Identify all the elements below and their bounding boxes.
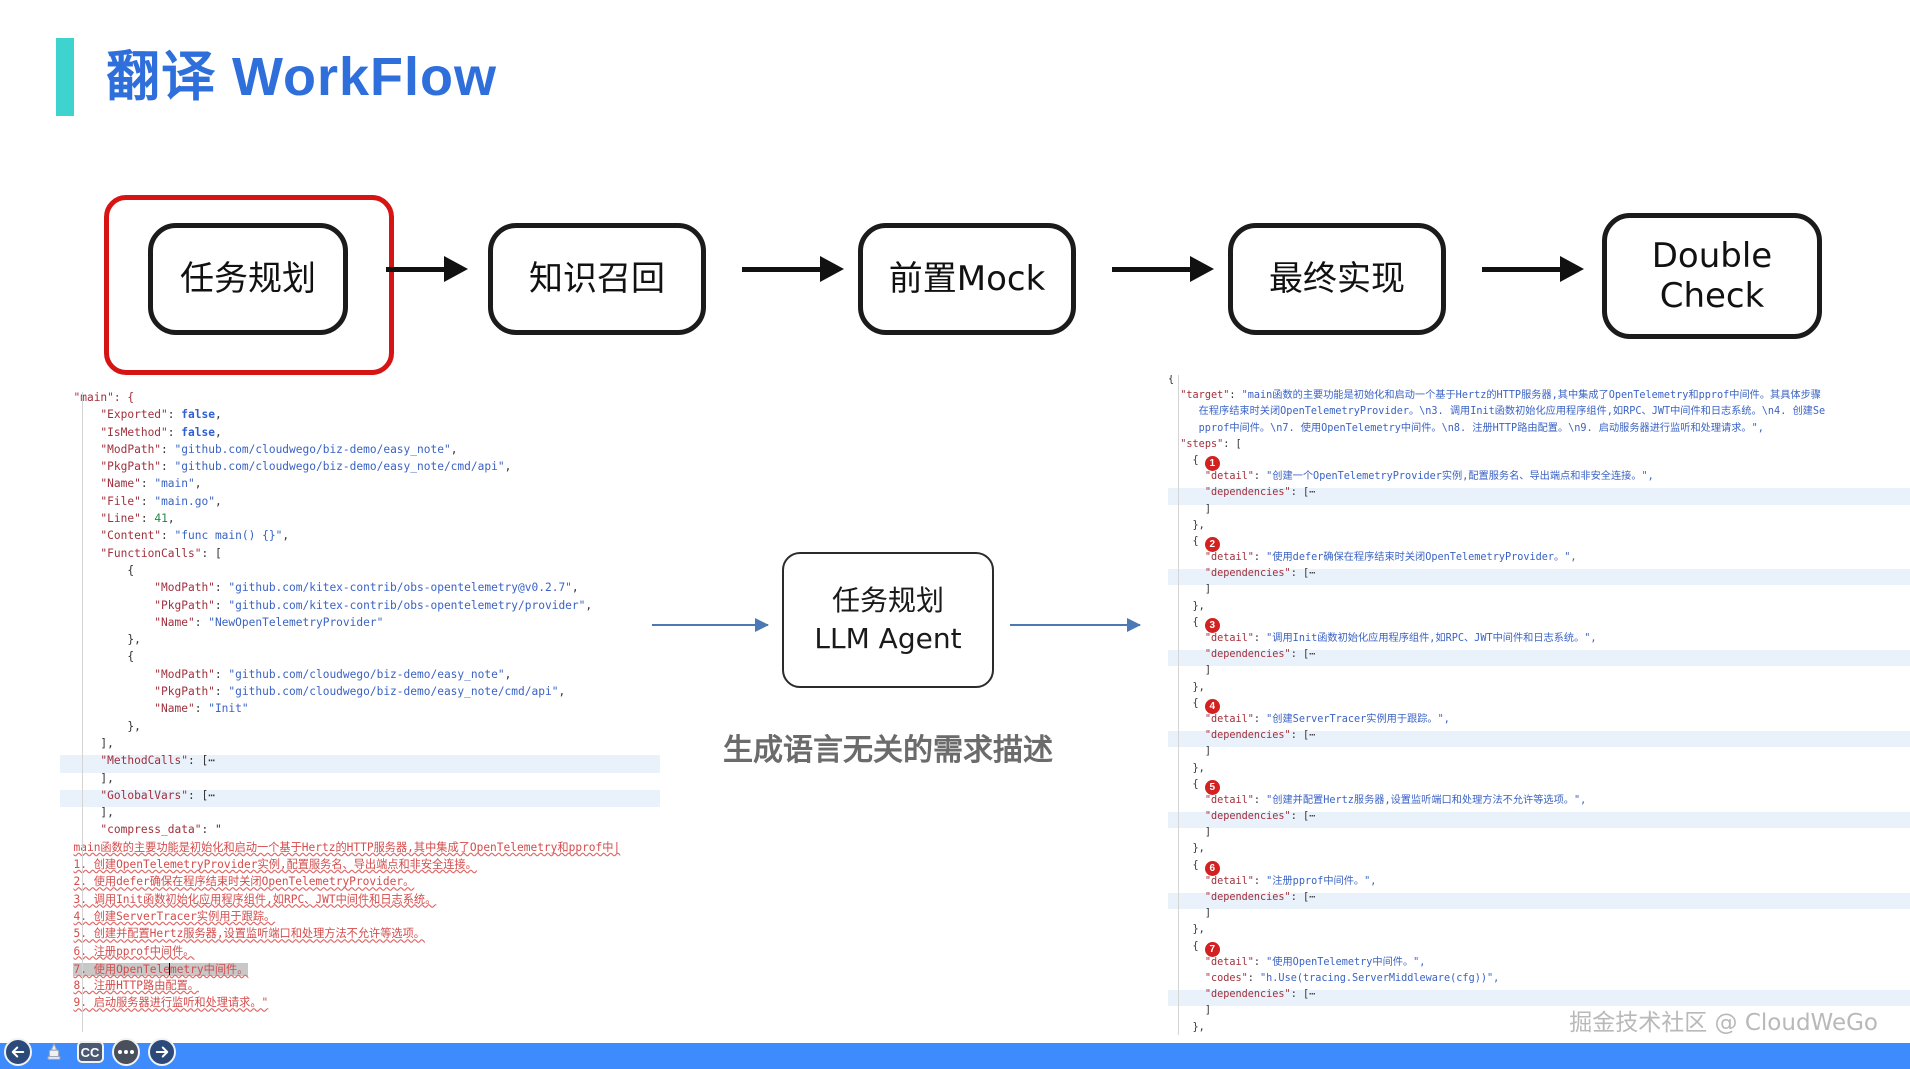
forward-arrow-icon[interactable] [148, 1038, 176, 1066]
workflow-step-1[interactable]: 任务规划 [148, 223, 348, 335]
json-line: ] [1168, 585, 1910, 601]
json-line: pprof中间件。\n7. 使用OpenTelemetry中间件。\n8. 注册… [1168, 424, 1910, 440]
watermark: 掘金技术社区 @ CloudWeGo [1569, 1003, 1878, 1037]
output-arrow [1010, 624, 1140, 626]
workflow-diagram: 任务规划 知识召回 前置Mock 最终实现 Double [0, 195, 1910, 340]
step-open-line: { 7 [1168, 942, 1910, 958]
json-line: "PkgPath": "github.com/kitex-contrib/obs… [60, 600, 660, 617]
workflow-step-5-label-line2: Check [1660, 276, 1765, 316]
step-detail-line: "detail": "使用OpenTelemetry中间件。", [1168, 958, 1910, 974]
json-line: { [60, 651, 660, 668]
json-line: ] [1168, 747, 1910, 763]
workflow-step-2-label: 知识召回 [529, 259, 665, 299]
step-open-line: { 4 [1168, 699, 1910, 715]
step-detail-line: "detail": "使用defer确保在程序结束时关闭OpenTelemetr… [1168, 553, 1910, 569]
output-json-panel[interactable]: { "target": "main函数的主要功能是初始化和启动一个基于Hertz… [1168, 375, 1910, 1035]
json-line: }, [1168, 844, 1910, 860]
back-arrow-icon[interactable] [4, 1038, 32, 1066]
compress-data-line[interactable]: 9. 启动服务器进行监听和处理请求。" [60, 997, 660, 1014]
step-detail-line: "detail": "创建一个OpenTelemetryProvider实例,配… [1168, 472, 1910, 488]
json-line: ] [1168, 909, 1910, 925]
workflow-step-4-label: 最终实现 [1269, 259, 1405, 299]
json-line: ] [1168, 828, 1910, 844]
json-line: { [60, 565, 660, 582]
compress-data-line[interactable]: 7. 使用OpenTelemetry中间件。 [60, 963, 660, 980]
step-dependencies-line: "dependencies": [⋯ [1168, 812, 1910, 828]
step-badge: 7 [1205, 942, 1220, 957]
json-line: 在程序结束时关闭OpenTelemetryProvider。\n3. 调用Ini… [1168, 407, 1910, 423]
workflow-step-3[interactable]: 前置Mock [858, 223, 1076, 335]
compress-data-line[interactable]: 3. 调用Init函数初始化应用程序组件,如RPC、JWT中间件和日志系统。 [60, 894, 660, 911]
workflow-step-4[interactable]: 最终实现 [1228, 223, 1446, 335]
json-line: "PkgPath": "github.com/cloudwego/biz-dem… [60, 461, 660, 478]
json-line: "Content": "func main() {}", [60, 530, 660, 547]
json-line: "PkgPath": "github.com/cloudwego/biz-dem… [60, 686, 660, 703]
compress-data-line[interactable]: 5. 创建并配置Hertz服务器,设置监听端口和处理方法不允许等选项。 [60, 928, 660, 945]
step-badge: 2 [1205, 537, 1220, 552]
step-badge: 3 [1205, 618, 1220, 633]
llm-agent-label-line2: LLM Agent [814, 620, 961, 658]
json-line: "Name": "NewOpenTelemetryProvider" [60, 617, 660, 634]
agent-caption: 生成语言无关的需求描述 [676, 725, 1100, 769]
json-line: }, [1168, 602, 1910, 618]
step-detail-line: "detail": "调用Init函数初始化应用程序组件,如RPC、JWT中间件… [1168, 634, 1910, 650]
step-open-line: { 3 [1168, 618, 1910, 634]
json-line: "Line": 41, [60, 513, 660, 530]
workflow-step-2[interactable]: 知识召回 [488, 223, 706, 335]
output-json-lines: { "target": "main函数的主要功能是初始化和启动一个基于Hertz… [1168, 375, 1910, 1035]
compress-data-line[interactable]: 2. 使用defer确保在程序结束时关闭OpenTelemetryProvide… [60, 876, 660, 893]
step-dependencies-line: "dependencies": [⋯ [1168, 569, 1910, 585]
more-dots-icon[interactable] [112, 1038, 140, 1066]
step-open-line: { 6 [1168, 861, 1910, 877]
json-line: "target": "main函数的主要功能是初始化和启动一个基于Hertz的H… [1168, 391, 1910, 407]
json-line: "compress_data": " [60, 824, 660, 841]
json-line: "ModPath": "github.com/kitex-contrib/obs… [60, 582, 660, 599]
step-open-line: { 1 [1168, 456, 1910, 472]
compress-data-line[interactable]: 1. 创建OpenTelemetryProvider实例,配置服务名、导出端点和… [60, 859, 660, 876]
json-line: }, [1168, 764, 1910, 780]
json-line: "File": "main.go", [60, 496, 660, 513]
json-line: "steps": [ [1168, 440, 1910, 456]
step-badge: 4 [1205, 699, 1220, 714]
step-open-line: { 2 [1168, 537, 1910, 553]
step-detail-line: "detail": "创建并配置Hertz服务器,设置监听端口和处理方法不允许等… [1168, 796, 1910, 812]
json-line: ], [60, 738, 660, 755]
json-line: }, [1168, 683, 1910, 699]
source-json-lines: "main": { "Exported": false, "IsMethod":… [60, 392, 660, 842]
workflow-step-3-label: 前置Mock [889, 259, 1046, 299]
json-line: "MethodCalls": [⋯ [60, 755, 660, 772]
compress-data-line[interactable]: 6. 注册pprof中间件。 [60, 946, 660, 963]
step-detail-line: "detail": "创建ServerTracer实例用于跟踪。", [1168, 715, 1910, 731]
json-line: "Exported": false, [60, 409, 660, 426]
workflow-step-1-label: 任务规划 [180, 259, 316, 299]
compress-data-line[interactable]: 4. 创建ServerTracer实例用于跟踪。 [60, 911, 660, 928]
json-line: ], [60, 807, 660, 824]
compress-data-text[interactable]: main函数的主要功能是初始化和启动一个基于Hertz的HTTP服务器,其中集成… [60, 842, 660, 1015]
json-line: "ModPath": "github.com/cloudwego/biz-dem… [60, 444, 660, 461]
llm-agent-box[interactable]: 任务规划 LLM Agent [782, 552, 994, 688]
step-codes-line: "codes": "h.Use(tracing.ServerMiddleware… [1168, 974, 1910, 990]
input-arrow [652, 624, 768, 626]
workflow-step-5-label-line1: Double [1652, 236, 1772, 276]
marker-pen-icon[interactable] [40, 1038, 68, 1066]
json-line: }, [60, 634, 660, 651]
json-line: "IsMethod": false, [60, 427, 660, 444]
compress-data-line[interactable]: 8. 注册HTTP路由配置。 [60, 980, 660, 997]
step-badge: 1 [1205, 456, 1220, 471]
step-dependencies-line: "dependencies": [⋯ [1168, 731, 1910, 747]
step-dependencies-line: "dependencies": [⋯ [1168, 488, 1910, 504]
json-line: "ModPath": "github.com/cloudwego/biz-dem… [60, 669, 660, 686]
title-accent-bar [56, 38, 74, 116]
json-line: }, [60, 721, 660, 738]
step-detail-line: "detail": "注册pprof中间件。", [1168, 877, 1910, 893]
slide-canvas: 翻译 WorkFlow 任务规划 知识召回 前置Mock 最终实现 [0, 0, 1910, 1069]
json-line: ], [60, 773, 660, 790]
json-line: "FunctionCalls": [ [60, 548, 660, 565]
compress-data-line[interactable]: main函数的主要功能是初始化和启动一个基于Hertz的HTTP服务器,其中集成… [60, 842, 660, 859]
source-json-panel[interactable]: "main": { "Exported": false, "IsMethod":… [60, 392, 660, 1032]
json-line: "Name": "main", [60, 478, 660, 495]
json-line: { [1168, 375, 1910, 391]
llm-agent-label-line1: 任务规划 [832, 582, 944, 620]
step-dependencies-line: "dependencies": [⋯ [1168, 893, 1910, 909]
step-open-line: { 5 [1168, 780, 1910, 796]
json-line: }, [1168, 925, 1910, 941]
json-line: ] [1168, 666, 1910, 682]
closed-captions-icon[interactable]: CC [76, 1038, 104, 1066]
bottom-toolbar [0, 1043, 1910, 1069]
json-line: "main": { [60, 392, 660, 409]
json-line: "Name": "Init" [60, 703, 660, 720]
step-dependencies-line: "dependencies": [⋯ [1168, 650, 1910, 666]
workflow-step-5[interactable]: Double Check [1602, 213, 1822, 339]
json-line: }, [1168, 521, 1910, 537]
json-line: ] [1168, 505, 1910, 521]
cc-label: CC [81, 1045, 100, 1060]
step-badge: 5 [1205, 780, 1220, 795]
json-line: "GolobalVars": [⋯ [60, 790, 660, 807]
page-title: 翻译 WorkFlow [106, 38, 497, 116]
step-badge: 6 [1205, 861, 1220, 876]
